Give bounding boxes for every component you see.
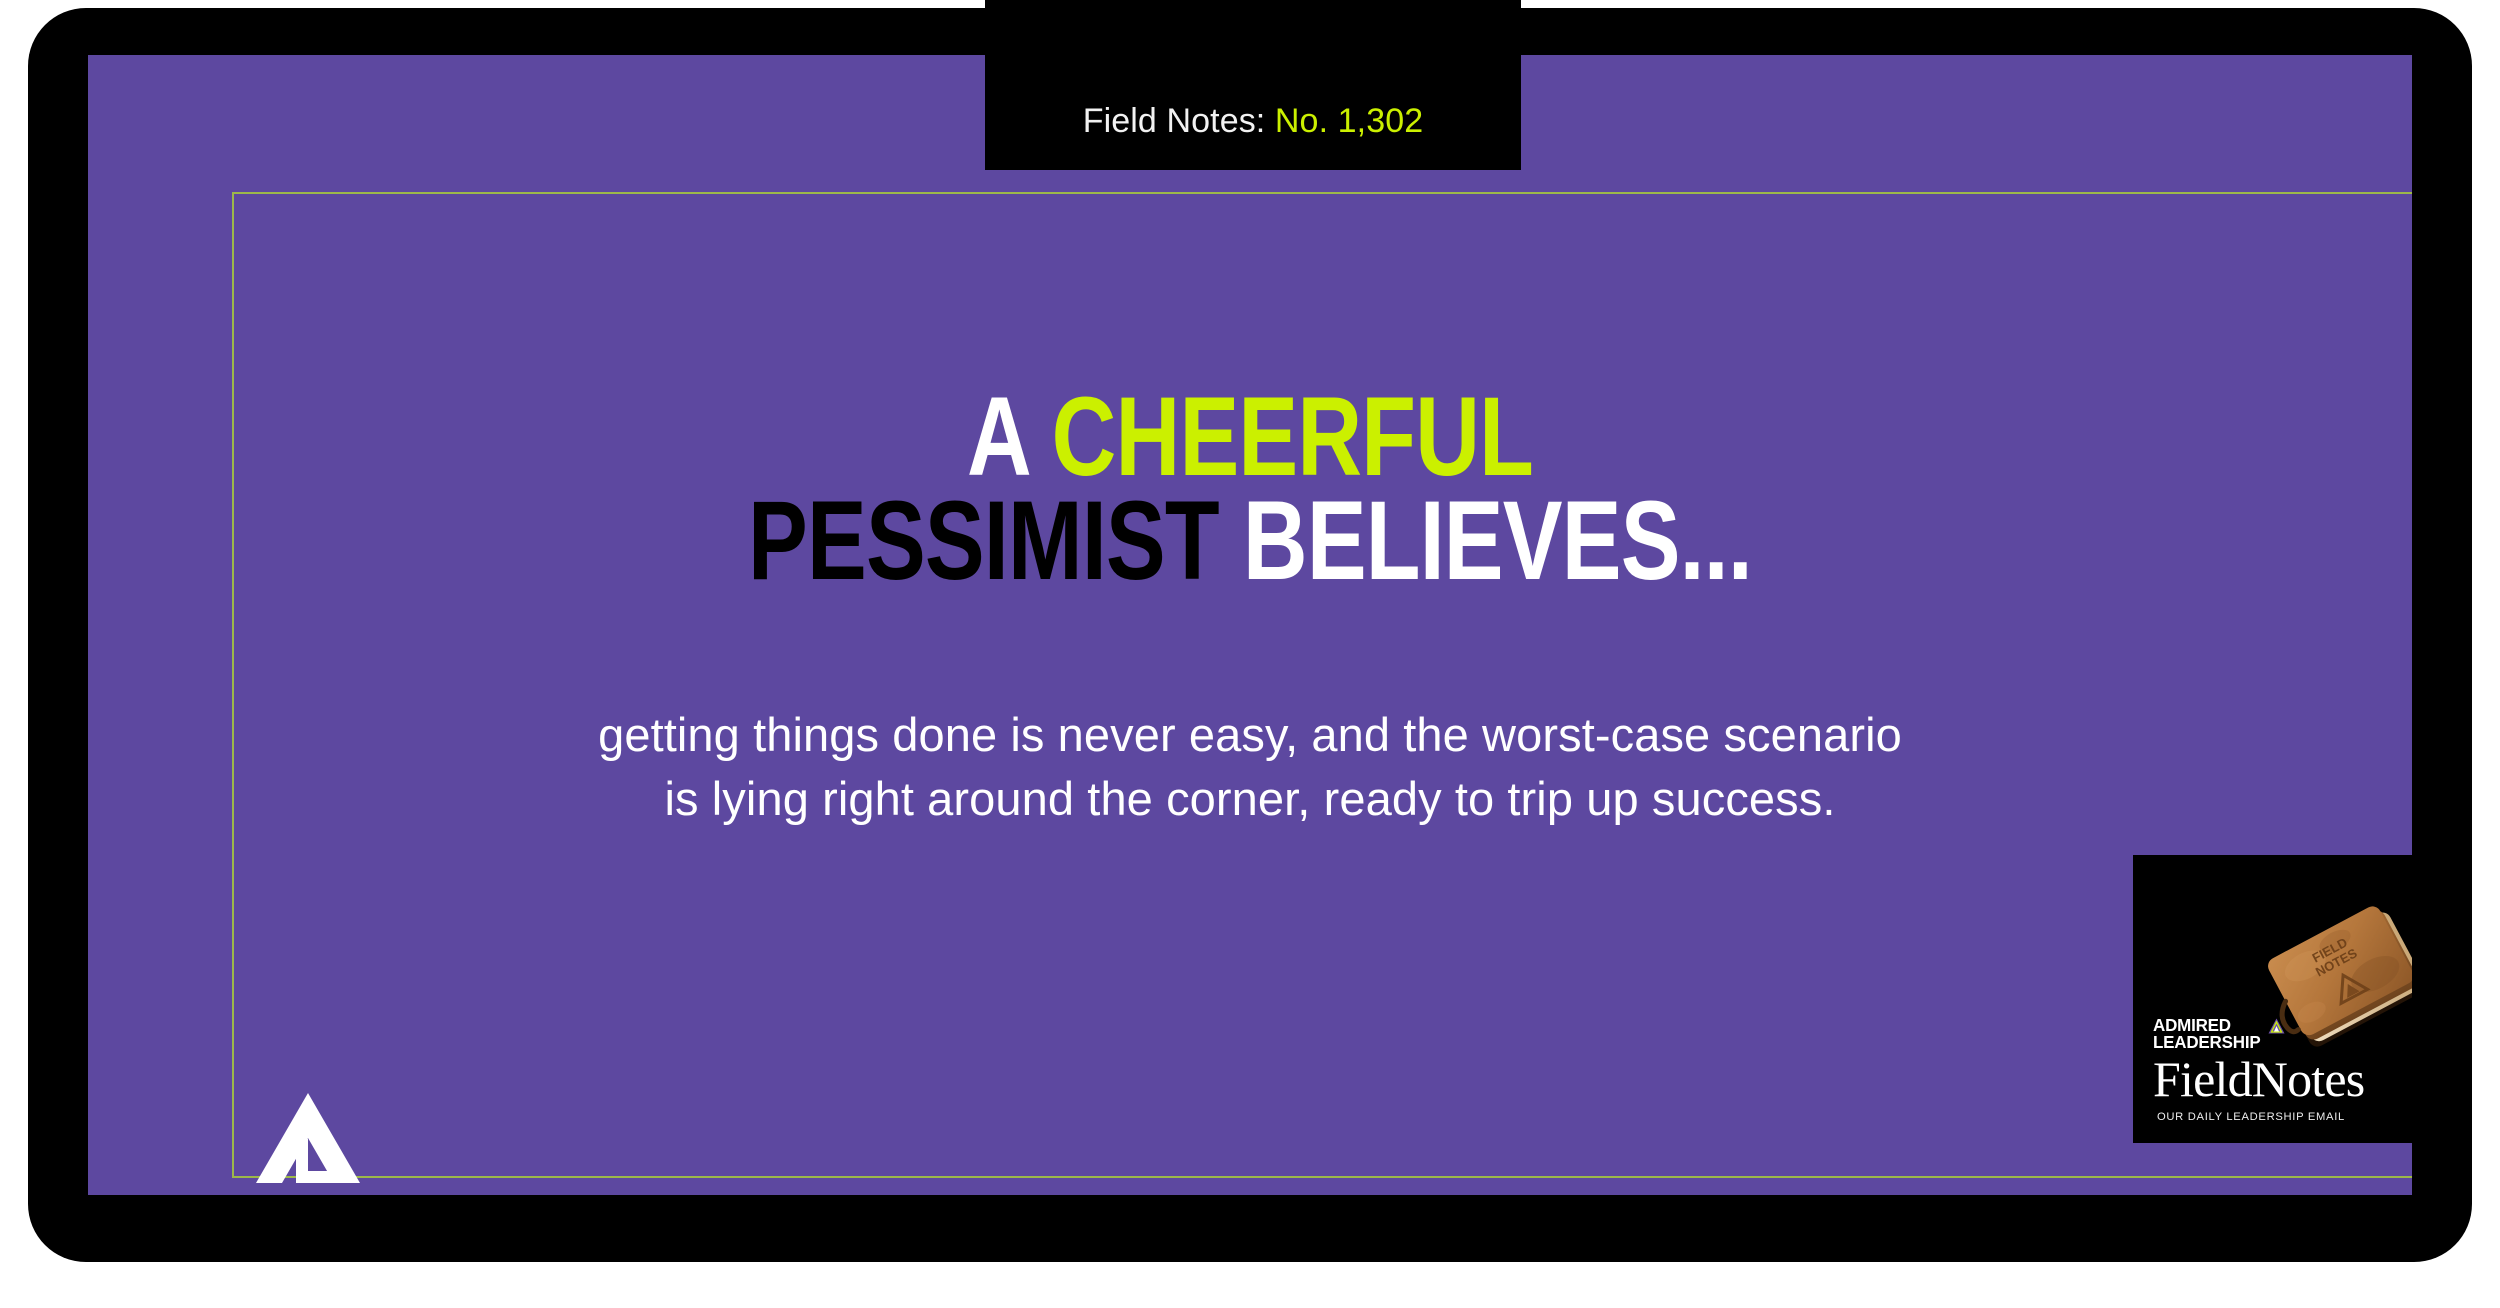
promo-card-inner: FIELD NOTES ADMIRED LEADERSHIP	[2133, 855, 2412, 1143]
headline-line-1: A CHEERFUL	[320, 385, 2179, 489]
promo-tagline: OUR DAILY LEADERSHIP EMAIL	[2153, 1111, 2393, 1123]
brand-line-leadership: LEADERSHIP	[2153, 1034, 2260, 1051]
admired-leadership-logo-icon	[256, 1093, 360, 1183]
issue-header-bar: Field Notes: No. 1,302	[985, 0, 1521, 170]
body-line-1: getting things done is never easy, and t…	[88, 703, 2412, 767]
admired-leadership-words: ADMIRED LEADERSHIP	[2153, 1017, 2264, 1051]
headline-word-pessimist: PESSIMIST	[748, 478, 1243, 603]
fieldnotes-wordmark: FieldNotes	[2153, 1054, 2393, 1104]
issue-header-label: Field Notes: No. 1,302	[1083, 104, 1424, 138]
headline-line-2: PESSIMIST BELIEVES...	[320, 489, 2179, 593]
slide-canvas: A CHEERFUL PESSIMIST BELIEVES... getting…	[0, 0, 2500, 1308]
issue-header-number: No. 1,302	[1275, 102, 1423, 140]
body-copy: getting things done is never easy, and t…	[88, 703, 2412, 831]
slide-surface: A CHEERFUL PESSIMIST BELIEVES... getting…	[88, 55, 2412, 1195]
issue-header-prefix: Field Notes:	[1083, 102, 1266, 140]
promo-card-text-lockup: ADMIRED LEADERSHIP FieldNotes OUR DAILY …	[2153, 1017, 2393, 1123]
inner-border-rule	[232, 192, 2412, 1178]
triangle-mark-icon	[2268, 1018, 2285, 1034]
body-line-2: is lying right around the corner, ready …	[88, 767, 2412, 831]
admired-leadership-lockup: ADMIRED LEADERSHIP	[2153, 1017, 2393, 1051]
headline: A CHEERFUL PESSIMIST BELIEVES...	[320, 385, 2179, 593]
field-notes-promo-card[interactable]: FIELD NOTES ADMIRED LEADERSHIP	[2133, 855, 2412, 1143]
headline-word-believes: BELIEVES...	[1243, 478, 1752, 603]
